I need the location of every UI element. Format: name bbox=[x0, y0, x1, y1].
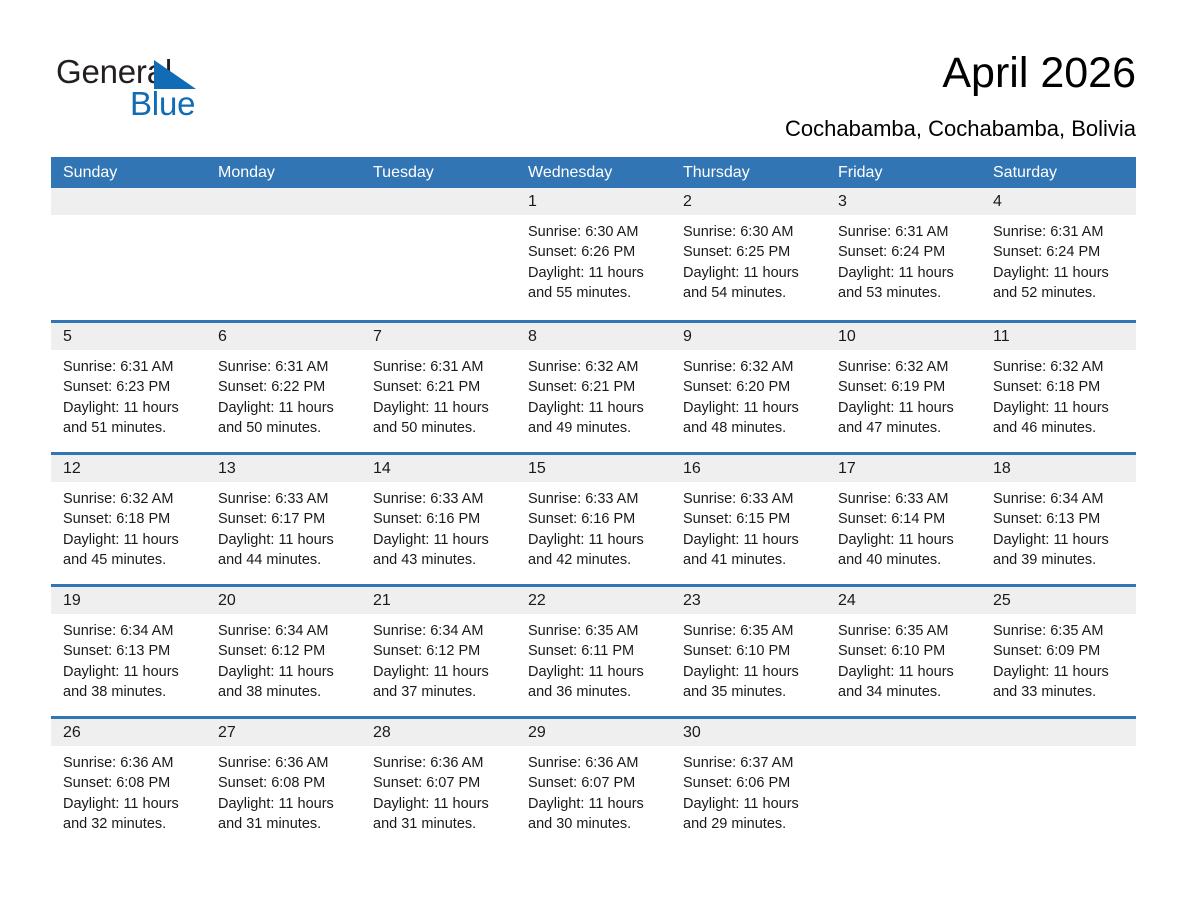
sunset-text: Sunset: 6:26 PM bbox=[528, 242, 663, 262]
day-number-strip: 30 bbox=[671, 719, 826, 746]
sunset-text: Sunset: 6:15 PM bbox=[683, 509, 818, 529]
day-number-strip: 23 bbox=[671, 587, 826, 614]
calendar-day-cell[interactable]: 10Sunrise: 6:32 AMSunset: 6:19 PMDayligh… bbox=[826, 323, 981, 452]
day-info: Sunrise: 6:32 AMSunset: 6:19 PMDaylight:… bbox=[826, 350, 981, 438]
day-info: Sunrise: 6:32 AMSunset: 6:20 PMDaylight:… bbox=[671, 350, 826, 438]
day-number-strip: 18 bbox=[981, 455, 1136, 482]
day-info: Sunrise: 6:32 AMSunset: 6:18 PMDaylight:… bbox=[981, 350, 1136, 438]
calendar-day-cell-empty bbox=[826, 719, 981, 848]
day-number-strip: 17 bbox=[826, 455, 981, 482]
day-info: Sunrise: 6:35 AMSunset: 6:10 PMDaylight:… bbox=[826, 614, 981, 702]
calendar-week-row: 5Sunrise: 6:31 AMSunset: 6:23 PMDaylight… bbox=[51, 320, 1136, 452]
sunset-text: Sunset: 6:16 PM bbox=[373, 509, 508, 529]
sunrise-text: Sunrise: 6:36 AM bbox=[63, 753, 198, 773]
sunset-text: Sunset: 6:24 PM bbox=[838, 242, 973, 262]
calendar-day-cell[interactable]: 24Sunrise: 6:35 AMSunset: 6:10 PMDayligh… bbox=[826, 587, 981, 716]
sunrise-text: Sunrise: 6:34 AM bbox=[63, 621, 198, 641]
day-info: Sunrise: 6:33 AMSunset: 6:14 PMDaylight:… bbox=[826, 482, 981, 570]
general-blue-logo[interactable]: General Blue bbox=[56, 52, 276, 128]
calendar-page: General Blue April 2026 Cochabamba, Coch… bbox=[0, 0, 1188, 918]
day-info: Sunrise: 6:33 AMSunset: 6:17 PMDaylight:… bbox=[206, 482, 361, 570]
weekday-header-saturday: Saturday bbox=[981, 157, 1136, 188]
daylight-text: Daylight: 11 hours and 50 minutes. bbox=[218, 398, 353, 439]
daylight-text: Daylight: 11 hours and 31 minutes. bbox=[373, 794, 508, 835]
sunset-text: Sunset: 6:21 PM bbox=[373, 377, 508, 397]
day-info: Sunrise: 6:35 AMSunset: 6:11 PMDaylight:… bbox=[516, 614, 671, 702]
calendar-day-cell[interactable]: 30Sunrise: 6:37 AMSunset: 6:06 PMDayligh… bbox=[671, 719, 826, 848]
calendar-day-cell[interactable]: 3Sunrise: 6:31 AMSunset: 6:24 PMDaylight… bbox=[826, 188, 981, 320]
day-number: 5 bbox=[51, 323, 206, 350]
daylight-text: Daylight: 11 hours and 41 minutes. bbox=[683, 530, 818, 571]
calendar-day-cell[interactable]: 12Sunrise: 6:32 AMSunset: 6:18 PMDayligh… bbox=[51, 455, 206, 584]
daylight-text: Daylight: 11 hours and 33 minutes. bbox=[993, 662, 1128, 703]
day-number: 13 bbox=[206, 455, 361, 482]
calendar-day-cell[interactable]: 20Sunrise: 6:34 AMSunset: 6:12 PMDayligh… bbox=[206, 587, 361, 716]
calendar-day-cell[interactable]: 28Sunrise: 6:36 AMSunset: 6:07 PMDayligh… bbox=[361, 719, 516, 848]
sunset-text: Sunset: 6:06 PM bbox=[683, 773, 818, 793]
day-info: Sunrise: 6:34 AMSunset: 6:12 PMDaylight:… bbox=[361, 614, 516, 702]
day-number: 12 bbox=[51, 455, 206, 482]
day-number-strip: 29 bbox=[516, 719, 671, 746]
day-number-strip: 26 bbox=[51, 719, 206, 746]
day-info: Sunrise: 6:35 AMSunset: 6:10 PMDaylight:… bbox=[671, 614, 826, 702]
day-number-strip bbox=[826, 719, 981, 746]
sunrise-text: Sunrise: 6:34 AM bbox=[218, 621, 353, 641]
day-info: Sunrise: 6:36 AMSunset: 6:07 PMDaylight:… bbox=[516, 746, 671, 834]
sunset-text: Sunset: 6:10 PM bbox=[683, 641, 818, 661]
daylight-text: Daylight: 11 hours and 29 minutes. bbox=[683, 794, 818, 835]
calendar-day-cell[interactable]: 22Sunrise: 6:35 AMSunset: 6:11 PMDayligh… bbox=[516, 587, 671, 716]
day-number: 17 bbox=[826, 455, 981, 482]
day-info: Sunrise: 6:33 AMSunset: 6:16 PMDaylight:… bbox=[361, 482, 516, 570]
day-number-strip: 12 bbox=[51, 455, 206, 482]
daylight-text: Daylight: 11 hours and 49 minutes. bbox=[528, 398, 663, 439]
daylight-text: Daylight: 11 hours and 31 minutes. bbox=[218, 794, 353, 835]
day-info: Sunrise: 6:30 AMSunset: 6:25 PMDaylight:… bbox=[671, 215, 826, 303]
calendar-day-cell[interactable]: 16Sunrise: 6:33 AMSunset: 6:15 PMDayligh… bbox=[671, 455, 826, 584]
calendar-day-cell[interactable]: 5Sunrise: 6:31 AMSunset: 6:23 PMDaylight… bbox=[51, 323, 206, 452]
page-title: April 2026 bbox=[942, 48, 1136, 98]
daylight-text: Daylight: 11 hours and 34 minutes. bbox=[838, 662, 973, 703]
location-subtitle: Cochabamba, Cochabamba, Bolivia bbox=[785, 115, 1136, 143]
day-number: 6 bbox=[206, 323, 361, 350]
calendar-day-cell-empty bbox=[981, 719, 1136, 848]
day-number-strip: 24 bbox=[826, 587, 981, 614]
day-number-strip: 1 bbox=[516, 188, 671, 215]
sunrise-text: Sunrise: 6:36 AM bbox=[373, 753, 508, 773]
calendar-day-cell[interactable]: 6Sunrise: 6:31 AMSunset: 6:22 PMDaylight… bbox=[206, 323, 361, 452]
day-number: 1 bbox=[516, 188, 671, 215]
calendar-day-cell[interactable]: 9Sunrise: 6:32 AMSunset: 6:20 PMDaylight… bbox=[671, 323, 826, 452]
day-number-strip: 19 bbox=[51, 587, 206, 614]
day-info: Sunrise: 6:35 AMSunset: 6:09 PMDaylight:… bbox=[981, 614, 1136, 702]
daylight-text: Daylight: 11 hours and 36 minutes. bbox=[528, 662, 663, 703]
day-number-strip bbox=[361, 188, 516, 215]
day-number-strip: 16 bbox=[671, 455, 826, 482]
day-number-strip bbox=[51, 188, 206, 215]
sunset-text: Sunset: 6:10 PM bbox=[838, 641, 973, 661]
calendar-day-cell[interactable]: 29Sunrise: 6:36 AMSunset: 6:07 PMDayligh… bbox=[516, 719, 671, 848]
daylight-text: Daylight: 11 hours and 38 minutes. bbox=[218, 662, 353, 703]
daylight-text: Daylight: 11 hours and 51 minutes. bbox=[63, 398, 198, 439]
sunrise-text: Sunrise: 6:32 AM bbox=[683, 357, 818, 377]
calendar-day-cell[interactable]: 17Sunrise: 6:33 AMSunset: 6:14 PMDayligh… bbox=[826, 455, 981, 584]
sunrise-text: Sunrise: 6:32 AM bbox=[63, 489, 198, 509]
sunset-text: Sunset: 6:11 PM bbox=[528, 641, 663, 661]
daylight-text: Daylight: 11 hours and 50 minutes. bbox=[373, 398, 508, 439]
calendar-week-row: 19Sunrise: 6:34 AMSunset: 6:13 PMDayligh… bbox=[51, 584, 1136, 716]
day-number: 24 bbox=[826, 587, 981, 614]
sunset-text: Sunset: 6:25 PM bbox=[683, 242, 818, 262]
sunrise-text: Sunrise: 6:32 AM bbox=[838, 357, 973, 377]
day-info: Sunrise: 6:37 AMSunset: 6:06 PMDaylight:… bbox=[671, 746, 826, 834]
calendar-week-row: 12Sunrise: 6:32 AMSunset: 6:18 PMDayligh… bbox=[51, 452, 1136, 584]
sunrise-text: Sunrise: 6:35 AM bbox=[683, 621, 818, 641]
day-number: 30 bbox=[671, 719, 826, 746]
day-number: 26 bbox=[51, 719, 206, 746]
sunrise-text: Sunrise: 6:34 AM bbox=[993, 489, 1128, 509]
sunset-text: Sunset: 6:16 PM bbox=[528, 509, 663, 529]
day-number-strip: 14 bbox=[361, 455, 516, 482]
weekday-header-sunday: Sunday bbox=[51, 157, 206, 188]
day-number: 14 bbox=[361, 455, 516, 482]
day-number-strip bbox=[206, 188, 361, 215]
day-number: 15 bbox=[516, 455, 671, 482]
sunset-text: Sunset: 6:08 PM bbox=[63, 773, 198, 793]
sunrise-text: Sunrise: 6:35 AM bbox=[993, 621, 1128, 641]
calendar-day-cell[interactable]: 1Sunrise: 6:30 AMSunset: 6:26 PMDaylight… bbox=[516, 188, 671, 320]
sunset-text: Sunset: 6:07 PM bbox=[373, 773, 508, 793]
day-info: Sunrise: 6:31 AMSunset: 6:22 PMDaylight:… bbox=[206, 350, 361, 438]
day-number-strip: 4 bbox=[981, 188, 1136, 215]
daylight-text: Daylight: 11 hours and 48 minutes. bbox=[683, 398, 818, 439]
day-number: 25 bbox=[981, 587, 1136, 614]
calendar-day-cell[interactable]: 7Sunrise: 6:31 AMSunset: 6:21 PMDaylight… bbox=[361, 323, 516, 452]
day-number: 11 bbox=[981, 323, 1136, 350]
day-number-strip: 9 bbox=[671, 323, 826, 350]
logo-text-blue: Blue bbox=[130, 84, 195, 124]
daylight-text: Daylight: 11 hours and 39 minutes. bbox=[993, 530, 1128, 571]
day-number-strip: 21 bbox=[361, 587, 516, 614]
day-number: 4 bbox=[981, 188, 1136, 215]
weekday-header-row: Sunday Monday Tuesday Wednesday Thursday… bbox=[51, 157, 1136, 188]
day-number-strip: 7 bbox=[361, 323, 516, 350]
day-number: 18 bbox=[981, 455, 1136, 482]
sunrise-text: Sunrise: 6:36 AM bbox=[528, 753, 663, 773]
calendar-day-cell[interactable]: 4Sunrise: 6:31 AMSunset: 6:24 PMDaylight… bbox=[981, 188, 1136, 320]
sunrise-text: Sunrise: 6:35 AM bbox=[838, 621, 973, 641]
page-header: General Blue April 2026 Cochabamba, Coch… bbox=[0, 0, 1188, 150]
calendar-day-cell-empty bbox=[206, 188, 361, 320]
daylight-text: Daylight: 11 hours and 53 minutes. bbox=[838, 263, 973, 304]
daylight-text: Daylight: 11 hours and 47 minutes. bbox=[838, 398, 973, 439]
day-number: 27 bbox=[206, 719, 361, 746]
day-number: 7 bbox=[361, 323, 516, 350]
day-number: 29 bbox=[516, 719, 671, 746]
daylight-text: Daylight: 11 hours and 43 minutes. bbox=[373, 530, 508, 571]
day-number-strip: 25 bbox=[981, 587, 1136, 614]
calendar-day-cell[interactable]: 11Sunrise: 6:32 AMSunset: 6:18 PMDayligh… bbox=[981, 323, 1136, 452]
sunset-text: Sunset: 6:20 PM bbox=[683, 377, 818, 397]
sunrise-text: Sunrise: 6:35 AM bbox=[528, 621, 663, 641]
daylight-text: Daylight: 11 hours and 52 minutes. bbox=[993, 263, 1128, 304]
daylight-text: Daylight: 11 hours and 55 minutes. bbox=[528, 263, 663, 304]
day-info: Sunrise: 6:31 AMSunset: 6:23 PMDaylight:… bbox=[51, 350, 206, 438]
day-number: 3 bbox=[826, 188, 981, 215]
day-info: Sunrise: 6:31 AMSunset: 6:24 PMDaylight:… bbox=[981, 215, 1136, 303]
sunset-text: Sunset: 6:23 PM bbox=[63, 377, 198, 397]
day-info: Sunrise: 6:30 AMSunset: 6:26 PMDaylight:… bbox=[516, 215, 671, 303]
day-info: Sunrise: 6:36 AMSunset: 6:08 PMDaylight:… bbox=[206, 746, 361, 834]
day-number-strip: 13 bbox=[206, 455, 361, 482]
day-info: Sunrise: 6:32 AMSunset: 6:21 PMDaylight:… bbox=[516, 350, 671, 438]
day-number-strip: 8 bbox=[516, 323, 671, 350]
sunrise-text: Sunrise: 6:30 AM bbox=[528, 222, 663, 242]
daylight-text: Daylight: 11 hours and 44 minutes. bbox=[218, 530, 353, 571]
daylight-text: Daylight: 11 hours and 54 minutes. bbox=[683, 263, 818, 304]
day-number-strip: 11 bbox=[981, 323, 1136, 350]
calendar-day-cell[interactable]: 14Sunrise: 6:33 AMSunset: 6:16 PMDayligh… bbox=[361, 455, 516, 584]
weekday-header-monday: Monday bbox=[206, 157, 361, 188]
calendar-day-cell[interactable]: 15Sunrise: 6:33 AMSunset: 6:16 PMDayligh… bbox=[516, 455, 671, 584]
daylight-text: Daylight: 11 hours and 46 minutes. bbox=[993, 398, 1128, 439]
day-info: Sunrise: 6:36 AMSunset: 6:08 PMDaylight:… bbox=[51, 746, 206, 834]
weekday-header-wednesday: Wednesday bbox=[516, 157, 671, 188]
day-number-strip: 5 bbox=[51, 323, 206, 350]
day-number: 16 bbox=[671, 455, 826, 482]
sunrise-text: Sunrise: 6:33 AM bbox=[528, 489, 663, 509]
sunrise-text: Sunrise: 6:31 AM bbox=[218, 357, 353, 377]
day-number-strip: 27 bbox=[206, 719, 361, 746]
sunset-text: Sunset: 6:07 PM bbox=[528, 773, 663, 793]
day-number-strip: 3 bbox=[826, 188, 981, 215]
day-number-strip bbox=[981, 719, 1136, 746]
sunrise-text: Sunrise: 6:31 AM bbox=[63, 357, 198, 377]
sunset-text: Sunset: 6:17 PM bbox=[218, 509, 353, 529]
day-number: 22 bbox=[516, 587, 671, 614]
day-info: Sunrise: 6:31 AMSunset: 6:21 PMDaylight:… bbox=[361, 350, 516, 438]
day-info: Sunrise: 6:34 AMSunset: 6:12 PMDaylight:… bbox=[206, 614, 361, 702]
sunset-text: Sunset: 6:08 PM bbox=[218, 773, 353, 793]
weekday-header-thursday: Thursday bbox=[671, 157, 826, 188]
sunrise-text: Sunrise: 6:31 AM bbox=[993, 222, 1128, 242]
calendar-weeks: 1Sunrise: 6:30 AMSunset: 6:26 PMDaylight… bbox=[51, 188, 1136, 848]
day-info: Sunrise: 6:33 AMSunset: 6:15 PMDaylight:… bbox=[671, 482, 826, 570]
calendar-day-cell-empty bbox=[361, 188, 516, 320]
daylight-text: Daylight: 11 hours and 35 minutes. bbox=[683, 662, 818, 703]
day-number-strip: 6 bbox=[206, 323, 361, 350]
sunrise-text: Sunrise: 6:34 AM bbox=[373, 621, 508, 641]
day-info: Sunrise: 6:34 AMSunset: 6:13 PMDaylight:… bbox=[981, 482, 1136, 570]
sunrise-text: Sunrise: 6:31 AM bbox=[373, 357, 508, 377]
sunrise-text: Sunrise: 6:30 AM bbox=[683, 222, 818, 242]
sunrise-text: Sunrise: 6:31 AM bbox=[838, 222, 973, 242]
sunrise-text: Sunrise: 6:32 AM bbox=[993, 357, 1128, 377]
sunrise-text: Sunrise: 6:33 AM bbox=[373, 489, 508, 509]
sunrise-text: Sunrise: 6:33 AM bbox=[838, 489, 973, 509]
daylight-text: Daylight: 11 hours and 37 minutes. bbox=[373, 662, 508, 703]
calendar-day-cell-empty bbox=[51, 188, 206, 320]
sunset-text: Sunset: 6:12 PM bbox=[218, 641, 353, 661]
sunset-text: Sunset: 6:14 PM bbox=[838, 509, 973, 529]
sunrise-text: Sunrise: 6:37 AM bbox=[683, 753, 818, 773]
daylight-text: Daylight: 11 hours and 32 minutes. bbox=[63, 794, 198, 835]
calendar-day-cell[interactable]: 27Sunrise: 6:36 AMSunset: 6:08 PMDayligh… bbox=[206, 719, 361, 848]
day-number: 8 bbox=[516, 323, 671, 350]
calendar-day-cell[interactable]: 26Sunrise: 6:36 AMSunset: 6:08 PMDayligh… bbox=[51, 719, 206, 848]
sunset-text: Sunset: 6:09 PM bbox=[993, 641, 1128, 661]
day-number-strip: 10 bbox=[826, 323, 981, 350]
sunrise-text: Sunrise: 6:33 AM bbox=[218, 489, 353, 509]
weekday-header-friday: Friday bbox=[826, 157, 981, 188]
sunset-text: Sunset: 6:13 PM bbox=[63, 641, 198, 661]
sunset-text: Sunset: 6:21 PM bbox=[528, 377, 663, 397]
daylight-text: Daylight: 11 hours and 45 minutes. bbox=[63, 530, 198, 571]
calendar-week-row: 26Sunrise: 6:36 AMSunset: 6:08 PMDayligh… bbox=[51, 716, 1136, 848]
day-number-strip: 15 bbox=[516, 455, 671, 482]
day-number-strip: 2 bbox=[671, 188, 826, 215]
day-number: 20 bbox=[206, 587, 361, 614]
sunrise-text: Sunrise: 6:32 AM bbox=[528, 357, 663, 377]
sunset-text: Sunset: 6:24 PM bbox=[993, 242, 1128, 262]
sunset-text: Sunset: 6:22 PM bbox=[218, 377, 353, 397]
day-number-strip: 28 bbox=[361, 719, 516, 746]
sunset-text: Sunset: 6:12 PM bbox=[373, 641, 508, 661]
day-number-strip: 20 bbox=[206, 587, 361, 614]
daylight-text: Daylight: 11 hours and 40 minutes. bbox=[838, 530, 973, 571]
day-number-strip: 22 bbox=[516, 587, 671, 614]
day-info: Sunrise: 6:34 AMSunset: 6:13 PMDaylight:… bbox=[51, 614, 206, 702]
day-info: Sunrise: 6:36 AMSunset: 6:07 PMDaylight:… bbox=[361, 746, 516, 834]
weekday-header-tuesday: Tuesday bbox=[361, 157, 516, 188]
daylight-text: Daylight: 11 hours and 38 minutes. bbox=[63, 662, 198, 703]
calendar-day-cell[interactable]: 18Sunrise: 6:34 AMSunset: 6:13 PMDayligh… bbox=[981, 455, 1136, 584]
day-number: 19 bbox=[51, 587, 206, 614]
calendar-day-cell[interactable]: 19Sunrise: 6:34 AMSunset: 6:13 PMDayligh… bbox=[51, 587, 206, 716]
sunrise-sunset-calendar: Sunday Monday Tuesday Wednesday Thursday… bbox=[51, 157, 1136, 848]
daylight-text: Daylight: 11 hours and 42 minutes. bbox=[528, 530, 663, 571]
sunset-text: Sunset: 6:19 PM bbox=[838, 377, 973, 397]
day-info: Sunrise: 6:31 AMSunset: 6:24 PMDaylight:… bbox=[826, 215, 981, 303]
day-number: 10 bbox=[826, 323, 981, 350]
day-number: 28 bbox=[361, 719, 516, 746]
calendar-day-cell[interactable]: 21Sunrise: 6:34 AMSunset: 6:12 PMDayligh… bbox=[361, 587, 516, 716]
calendar-day-cell[interactable]: 2Sunrise: 6:30 AMSunset: 6:25 PMDaylight… bbox=[671, 188, 826, 320]
day-info: Sunrise: 6:32 AMSunset: 6:18 PMDaylight:… bbox=[51, 482, 206, 570]
calendar-day-cell[interactable]: 8Sunrise: 6:32 AMSunset: 6:21 PMDaylight… bbox=[516, 323, 671, 452]
calendar-week-row: 1Sunrise: 6:30 AMSunset: 6:26 PMDaylight… bbox=[51, 188, 1136, 320]
day-number: 9 bbox=[671, 323, 826, 350]
sunset-text: Sunset: 6:18 PM bbox=[63, 509, 198, 529]
day-number: 23 bbox=[671, 587, 826, 614]
calendar-day-cell[interactable]: 23Sunrise: 6:35 AMSunset: 6:10 PMDayligh… bbox=[671, 587, 826, 716]
day-number: 21 bbox=[361, 587, 516, 614]
daylight-text: Daylight: 11 hours and 30 minutes. bbox=[528, 794, 663, 835]
sunrise-text: Sunrise: 6:33 AM bbox=[683, 489, 818, 509]
sunset-text: Sunset: 6:13 PM bbox=[993, 509, 1128, 529]
calendar-day-cell[interactable]: 25Sunrise: 6:35 AMSunset: 6:09 PMDayligh… bbox=[981, 587, 1136, 716]
calendar-day-cell[interactable]: 13Sunrise: 6:33 AMSunset: 6:17 PMDayligh… bbox=[206, 455, 361, 584]
day-number: 2 bbox=[671, 188, 826, 215]
sunrise-text: Sunrise: 6:36 AM bbox=[218, 753, 353, 773]
day-info: Sunrise: 6:33 AMSunset: 6:16 PMDaylight:… bbox=[516, 482, 671, 570]
sunset-text: Sunset: 6:18 PM bbox=[993, 377, 1128, 397]
